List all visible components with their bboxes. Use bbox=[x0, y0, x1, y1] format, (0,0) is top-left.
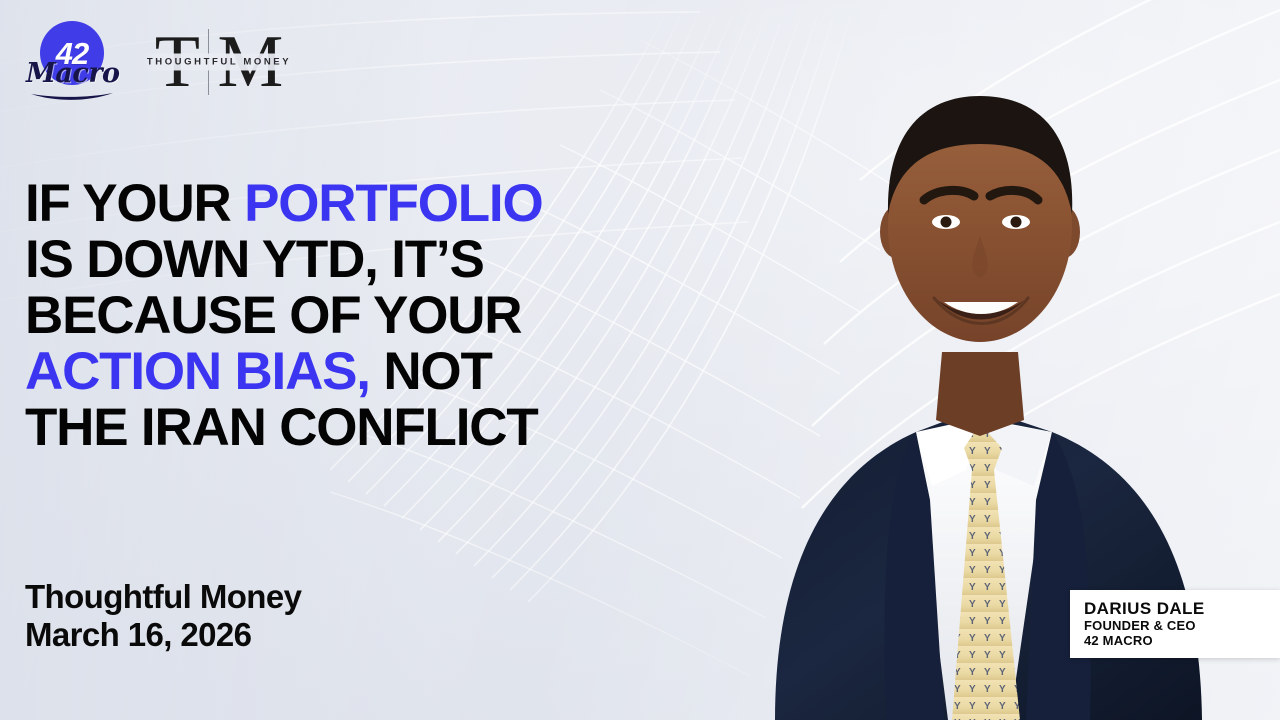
headline-segment-1-1: IF YOUR bbox=[25, 174, 244, 233]
headline-segment-4-2: NOT bbox=[370, 342, 492, 401]
headline-segment-4-1: ACTION BIAS, bbox=[25, 342, 370, 401]
title-slide: Y bbox=[0, 0, 1280, 720]
headline-line-2: IS DOWN YTD, IT’S bbox=[25, 232, 705, 288]
thoughtful-money-tagline: THOUGHTFUL MONEY bbox=[144, 54, 294, 71]
headline: IF YOUR PORTFOLIOIS DOWN YTD, IT’SBECAUS… bbox=[25, 176, 705, 456]
headline-segment-3-1: BECAUSE OF YOUR bbox=[25, 286, 521, 345]
event-show-name: Thoughtful Money bbox=[25, 578, 301, 616]
42-macro-wordmark: Macro bbox=[26, 60, 118, 87]
headline-line-4: ACTION BIAS, NOT bbox=[25, 344, 705, 400]
headline-segment-5-1: THE IRAN CONFLICT bbox=[25, 398, 538, 457]
thoughtful-money-logo[interactable]: T M THOUGHTFUL MONEY bbox=[144, 22, 294, 102]
speaker-role: FOUNDER & CEO bbox=[1084, 618, 1280, 633]
speaker-name-card: DARIUS DALE FOUNDER & CEO 42 MACRO bbox=[1070, 590, 1280, 658]
headline-line-3: BECAUSE OF YOUR bbox=[25, 288, 705, 344]
speaker-name: DARIUS DALE bbox=[1084, 599, 1280, 618]
headline-segment-1-2: PORTFOLIO bbox=[244, 174, 542, 233]
event-info: Thoughtful Money March 16, 2026 bbox=[25, 578, 301, 654]
logo-bar: 42 Macro T M THOUGHTFUL MONEY bbox=[24, 18, 294, 106]
speaker-company: 42 MACRO bbox=[1084, 633, 1280, 648]
42-macro-swash-icon bbox=[30, 92, 114, 102]
headline-line-5: THE IRAN CONFLICT bbox=[25, 400, 705, 456]
event-date: March 16, 2026 bbox=[25, 616, 301, 654]
headline-segment-2-1: IS DOWN YTD, IT’S bbox=[25, 230, 484, 289]
42-macro-logo[interactable]: 42 Macro bbox=[24, 18, 118, 106]
headline-line-1: IF YOUR PORTFOLIO bbox=[25, 176, 705, 232]
